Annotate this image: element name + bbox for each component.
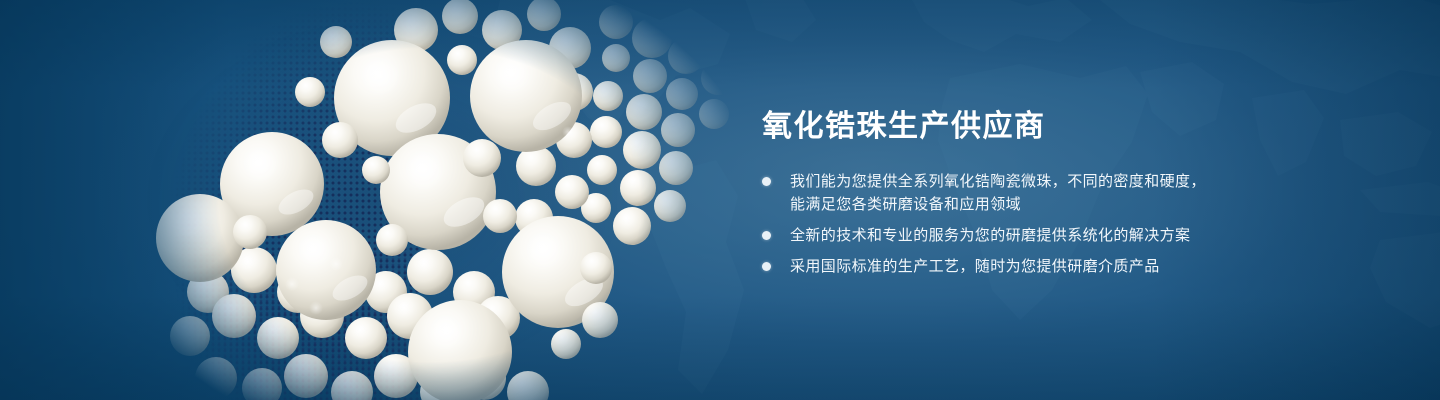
page-title: 氧化锆珠生产供应商 xyxy=(762,108,1322,146)
bullet-dot-icon xyxy=(762,177,771,186)
list-item-line-1: 全新的技术和专业的服务为您的研磨提供系统化的解决方案 xyxy=(790,224,1322,247)
list-item: 我们能为您提供全系列氧化锆陶瓷微珠，不同的密度和硬度， 能满足您各类研磨设备和应… xyxy=(762,170,1322,216)
list-item-line-1: 采用国际标准的生产工艺，随时为您提供研磨介质产品 xyxy=(790,255,1322,278)
list-item-line-1: 我们能为您提供全系列氧化锆陶瓷微珠，不同的密度和硬度， xyxy=(790,170,1322,193)
banner-copy: 氧化锆珠生产供应商 我们能为您提供全系列氧化锆陶瓷微珠，不同的密度和硬度， 能满… xyxy=(762,108,1322,278)
bullet-dot-icon xyxy=(762,231,771,240)
bullet-dot-icon xyxy=(762,262,771,271)
list-item: 采用国际标准的生产工艺，随时为您提供研磨介质产品 xyxy=(762,255,1322,278)
list-item-line-2: 能满足您各类研磨设备和应用领域 xyxy=(790,193,1322,216)
hero-banner: 氧化锆珠生产供应商 我们能为您提供全系列氧化锆陶瓷微珠，不同的密度和硬度， 能满… xyxy=(0,0,1440,400)
feature-list: 我们能为您提供全系列氧化锆陶瓷微珠，不同的密度和硬度， 能满足您各类研磨设备和应… xyxy=(762,170,1322,278)
list-item: 全新的技术和专业的服务为您的研磨提供系统化的解决方案 xyxy=(762,224,1322,247)
